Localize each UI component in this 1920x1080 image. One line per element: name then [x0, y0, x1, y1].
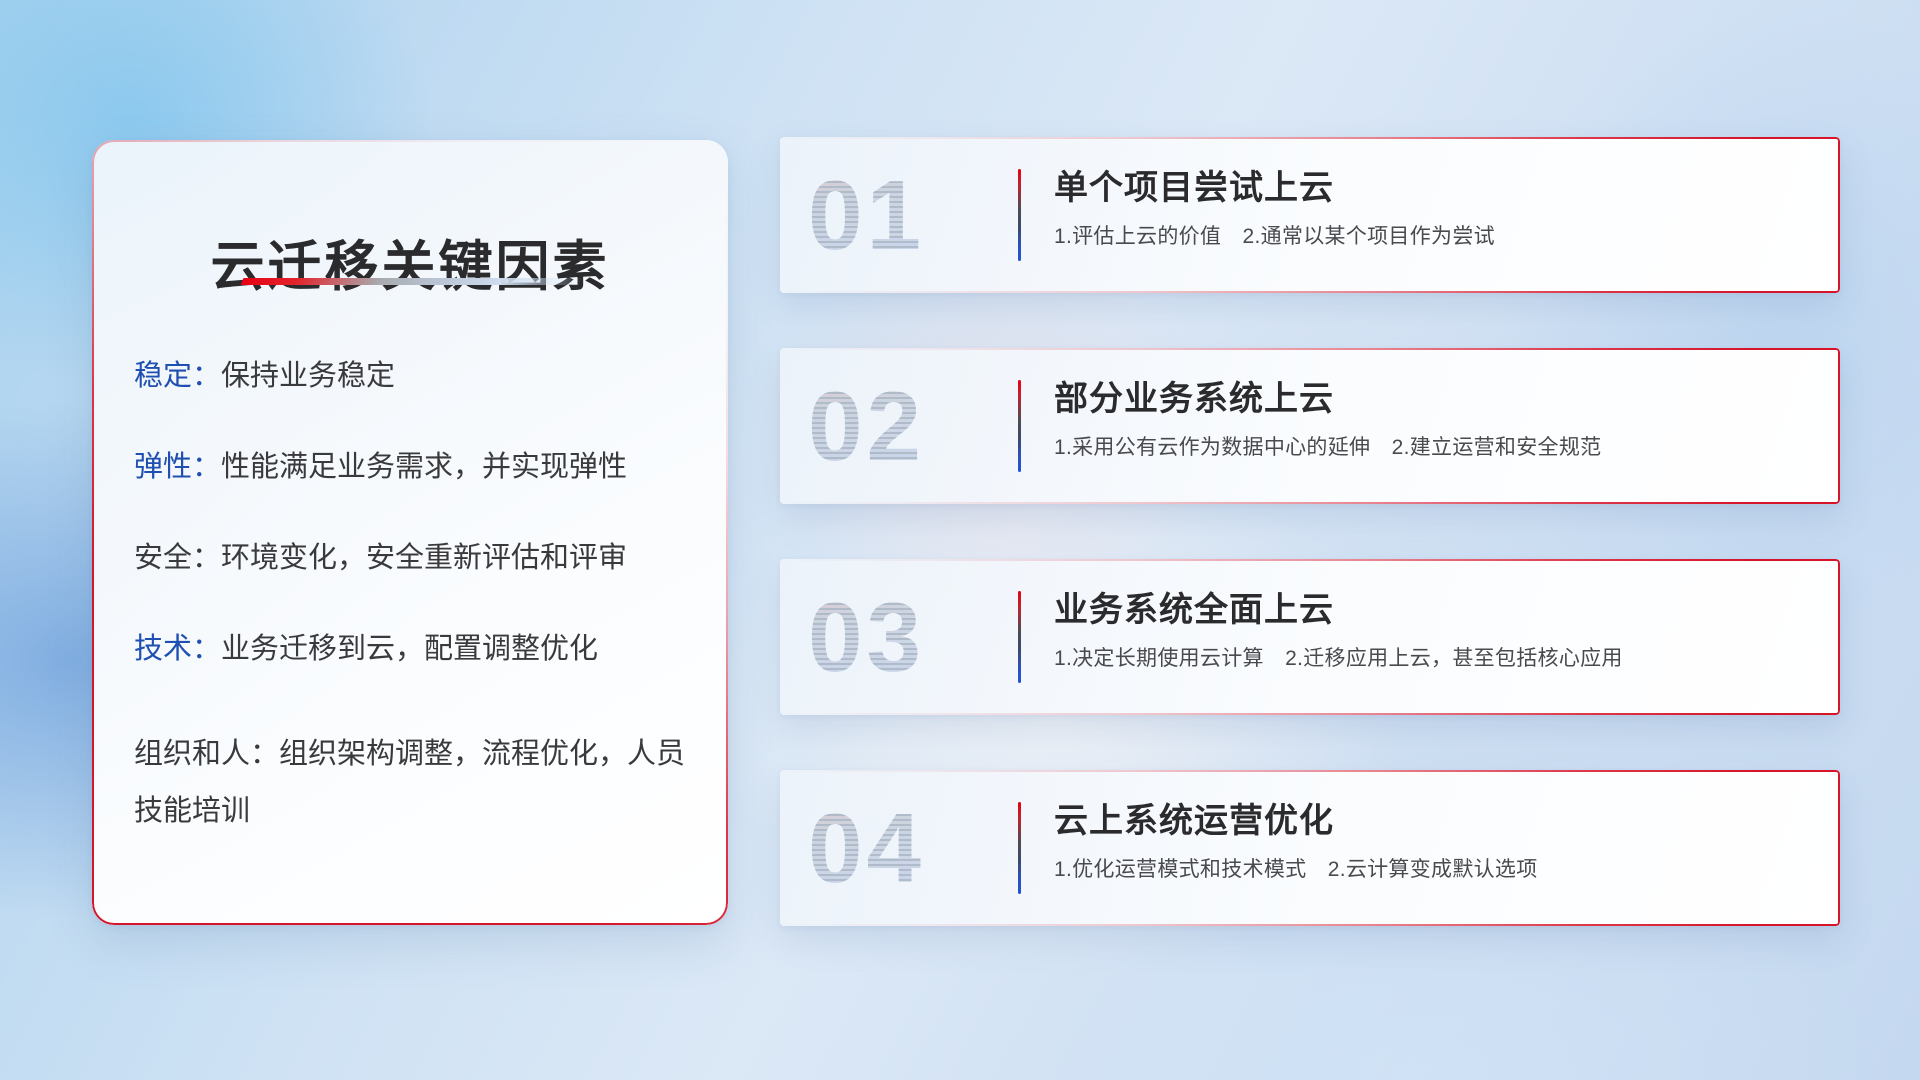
step-divider-bar — [1018, 380, 1021, 472]
factor-label: 技术： — [134, 633, 221, 665]
slide-canvas: 云迁移关键因素 稳定：保持业务稳定 弹性：性能满足业务需求，并实现弹性 安全：环… — [0, 0, 1920, 1080]
factor-text: 性能满足业务需求，并实现弹性 — [221, 451, 627, 483]
step-title: 云上系统运营优化 — [1054, 800, 1814, 843]
factor-text: 环境变化，安全重新评估和评审 — [221, 542, 627, 574]
factor-item-elasticity: 弹性：性能满足业务需求，并实现弹性 — [134, 453, 694, 482]
factor-label: 组织和人： — [134, 738, 279, 770]
step-title: 单个项目尝试上云 — [1054, 167, 1814, 210]
factor-list: 稳定：保持业务稳定 弹性：性能满足业务需求，并实现弹性 安全：环境变化，安全重新… — [134, 362, 694, 839]
factor-item-organization-and-people: 组织和人：组织架构调整，流程优化，人员技能培训 — [134, 726, 694, 839]
step-description: 1.决定长期使用云计算 2.迁移应用上云，甚至包括核心应用 — [1054, 645, 1814, 672]
step-divider-bar — [1018, 802, 1021, 894]
step-body: 部分业务系统上云 1.采用公有云作为数据中心的延伸 2.建立运营和安全规范 — [1054, 378, 1814, 461]
step-title: 业务系统全面上云 — [1054, 589, 1814, 632]
step-number: 03 — [808, 588, 925, 686]
step-description: 1.采用公有云作为数据中心的延伸 2.建立运营和安全规范 — [1054, 434, 1814, 461]
step-number: 02 — [808, 377, 925, 475]
step-number: 01 — [808, 166, 925, 264]
step-card-01[interactable]: 01 单个项目尝试上云 1.评估上云的价值 2.通常以某个项目作为尝试 — [780, 137, 1840, 293]
migration-steps-list: 01 单个项目尝试上云 1.评估上云的价值 2.通常以某个项目作为尝试 02 部… — [780, 137, 1840, 926]
step-card-03[interactable]: 03 业务系统全面上云 1.决定长期使用云计算 2.迁移应用上云，甚至包括核心应… — [780, 559, 1840, 715]
factor-item-stability: 稳定：保持业务稳定 — [134, 362, 694, 391]
factor-label: 弹性： — [134, 451, 221, 483]
step-number: 04 — [808, 799, 925, 897]
title-underline-rule — [241, 278, 584, 285]
page-title: 云迁移关键因素 — [92, 222, 728, 301]
step-divider-bar — [1018, 169, 1021, 261]
step-body: 云上系统运营优化 1.优化运营模式和技术模式 2.云计算变成默认选项 — [1054, 800, 1814, 883]
factor-item-technology: 技术：业务迁移到云，配置调整优化 — [134, 635, 694, 664]
step-card-02[interactable]: 02 部分业务系统上云 1.采用公有云作为数据中心的延伸 2.建立运营和安全规范 — [780, 348, 1840, 504]
step-description: 1.评估上云的价值 2.通常以某个项目作为尝试 — [1054, 223, 1814, 250]
factor-label: 稳定： — [134, 360, 221, 392]
factor-item-security: 安全：环境变化，安全重新评估和评审 — [134, 544, 694, 573]
step-title: 部分业务系统上云 — [1054, 378, 1814, 421]
factor-text: 保持业务稳定 — [221, 360, 395, 392]
key-factors-panel: 云迁移关键因素 稳定：保持业务稳定 弹性：性能满足业务需求，并实现弹性 安全：环… — [92, 140, 728, 925]
factor-label: 安全： — [134, 542, 221, 574]
step-description: 1.优化运营模式和技术模式 2.云计算变成默认选项 — [1054, 856, 1814, 883]
step-body: 业务系统全面上云 1.决定长期使用云计算 2.迁移应用上云，甚至包括核心应用 — [1054, 589, 1814, 672]
step-body: 单个项目尝试上云 1.评估上云的价值 2.通常以某个项目作为尝试 — [1054, 167, 1814, 250]
step-divider-bar — [1018, 591, 1021, 683]
factor-text: 业务迁移到云，配置调整优化 — [221, 633, 598, 665]
step-card-04[interactable]: 04 云上系统运营优化 1.优化运营模式和技术模式 2.云计算变成默认选项 — [780, 770, 1840, 926]
